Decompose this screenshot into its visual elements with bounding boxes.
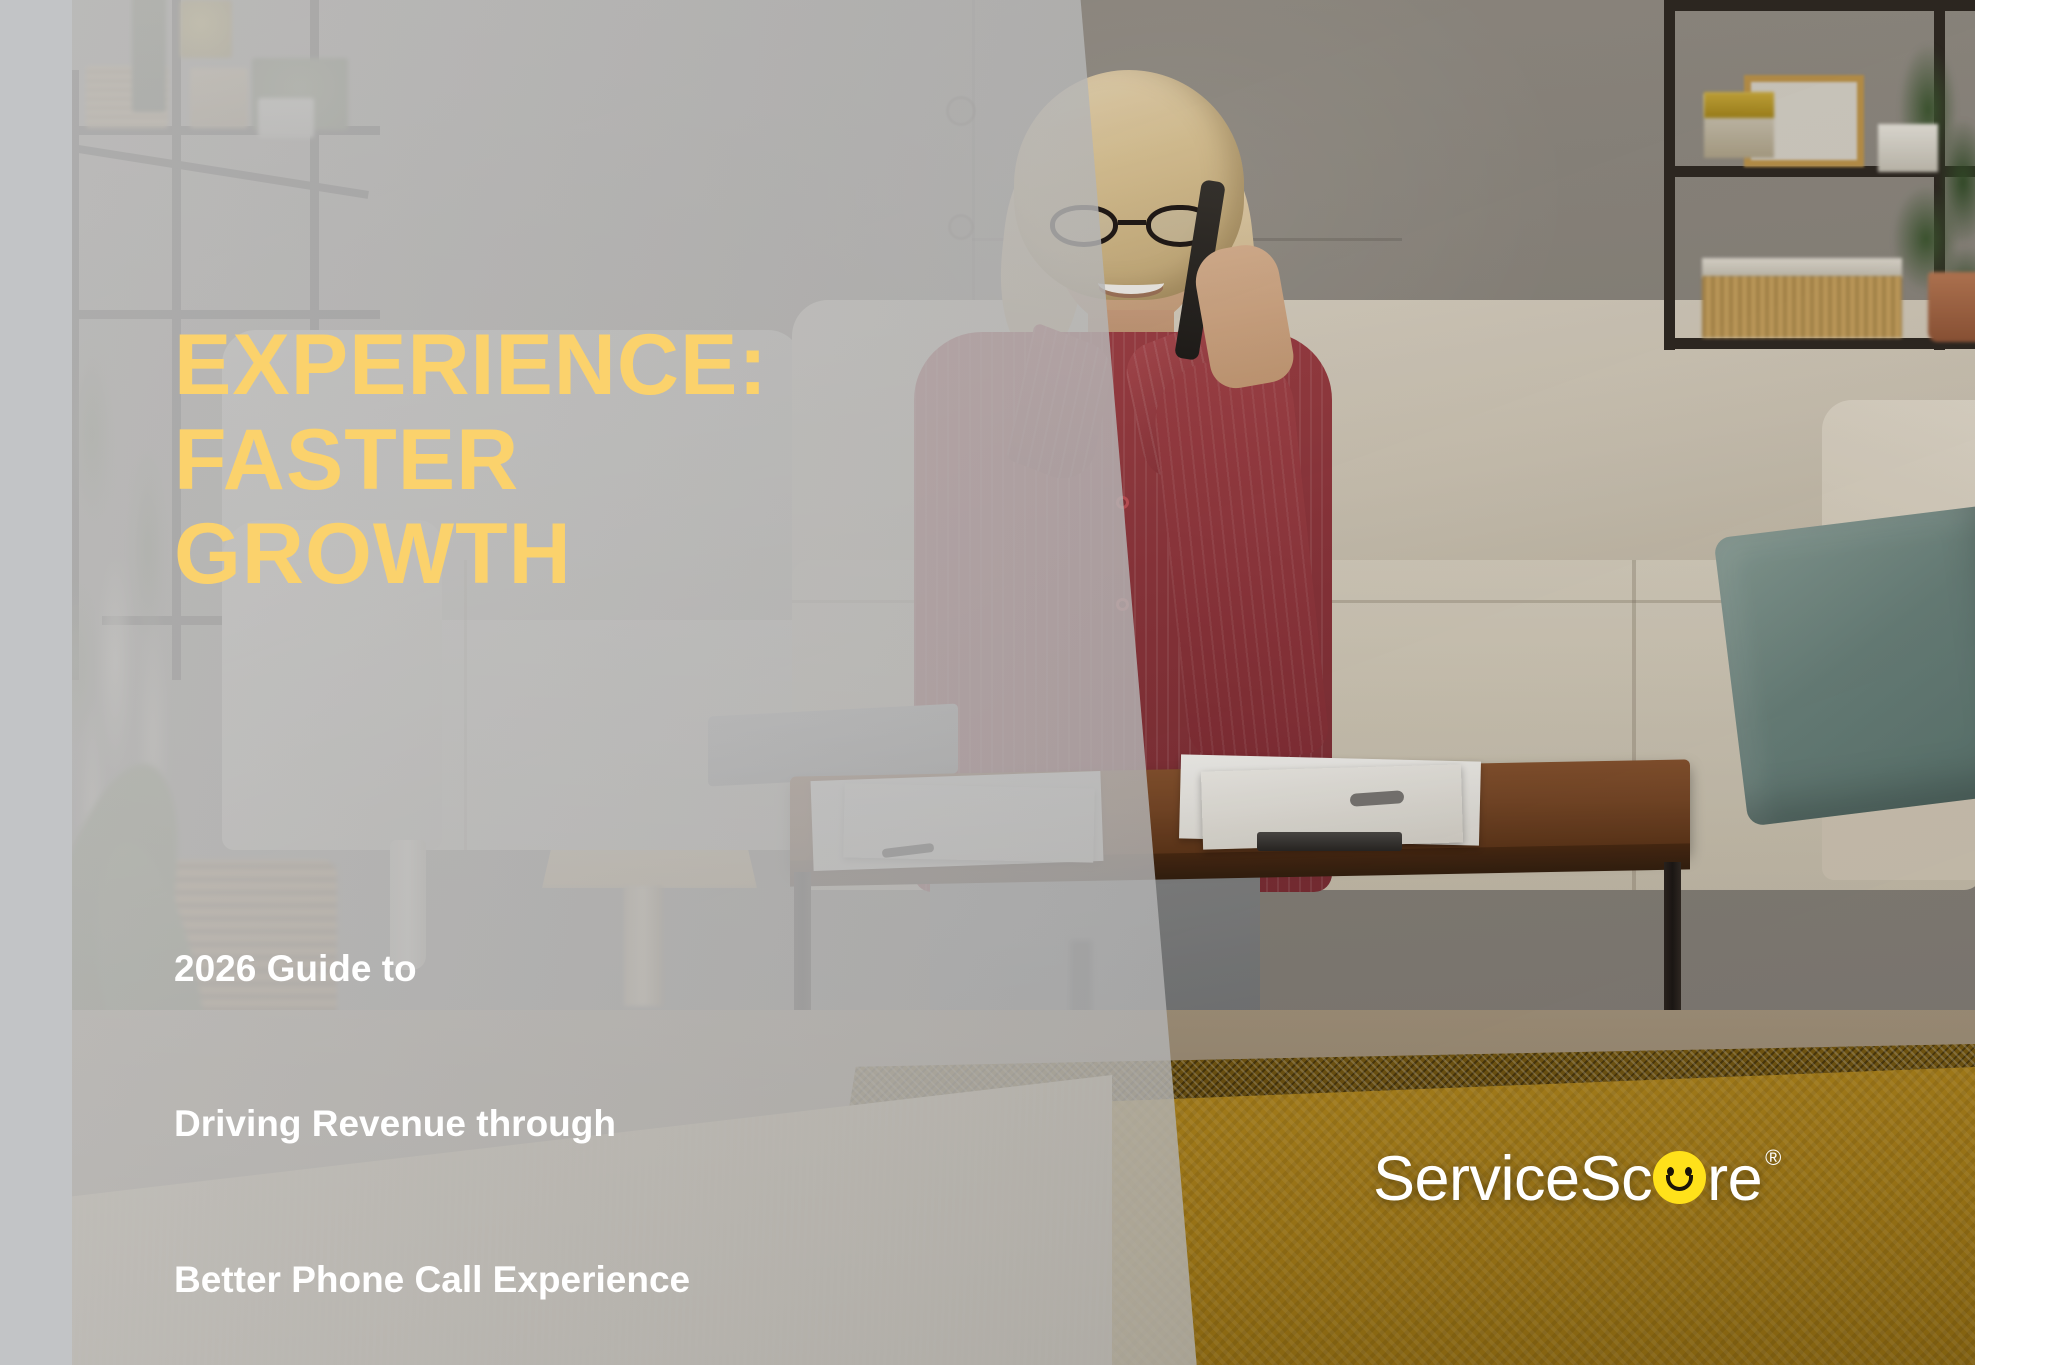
logo-text-after: re [1707, 1143, 1762, 1215]
smiley-face-icon [1653, 1151, 1706, 1204]
cover-text-layer: EXPERIENCE: FASTER GROWTH 2026 Guide to … [0, 0, 2048, 1365]
servicescore-logo[interactable]: ServiceSc re ® [1373, 1143, 1781, 1215]
cover-headline: EXPERIENCE: FASTER GROWTH [174, 318, 954, 602]
cover-subtitle: 2026 Guide to Driving Revenue through Be… [174, 930, 1074, 1318]
logo-text-before: ServiceSc [1373, 1143, 1652, 1215]
ebook-cover: EXPERIENCE: FASTER GROWTH 2026 Guide to … [0, 0, 2048, 1365]
registered-trademark-symbol: ® [1765, 1145, 1781, 1171]
left-page-edge [0, 0, 72, 1365]
right-page-edge [1975, 0, 2048, 1365]
